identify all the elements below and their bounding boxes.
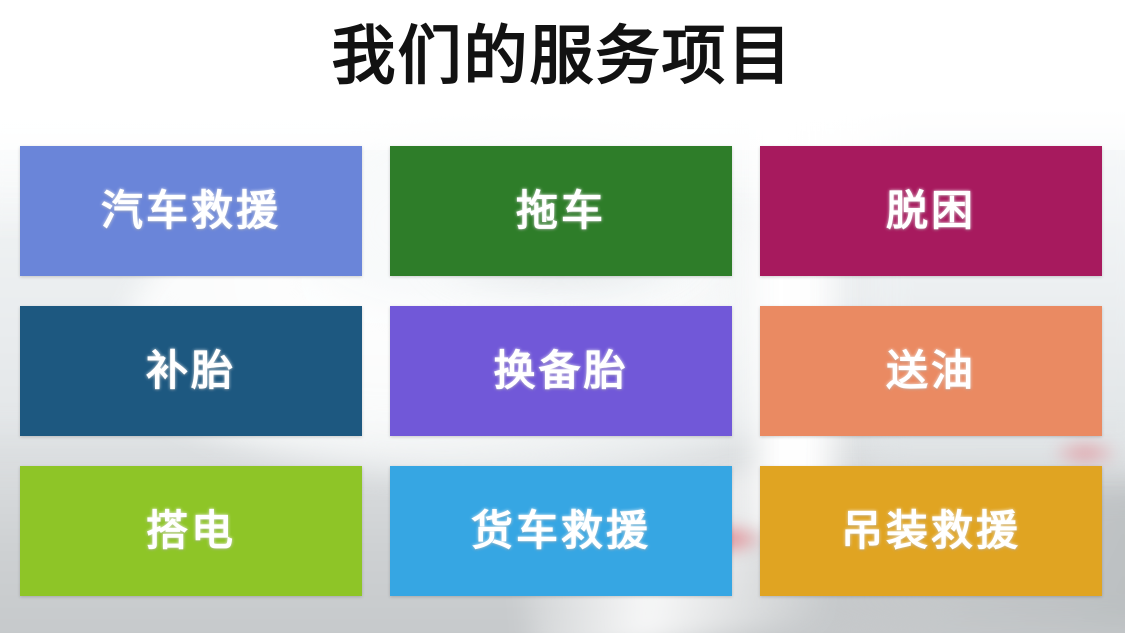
service-tile-extrication[interactable]: 脱困 bbox=[760, 146, 1102, 276]
service-tile-label: 拖车 bbox=[516, 190, 606, 232]
service-grid: 汽车救援 拖车 脱困 补胎 换备胎 送油 搭电 货车救援 吊装救援 bbox=[20, 146, 1105, 596]
service-tile-label: 搭电 bbox=[146, 510, 236, 552]
service-tile-spare-tire-change[interactable]: 换备胎 bbox=[390, 306, 732, 436]
service-tile-crane-lifting-rescue[interactable]: 吊装救援 bbox=[760, 466, 1102, 596]
service-tile-label: 脱困 bbox=[886, 190, 976, 232]
service-tile-towing[interactable]: 拖车 bbox=[390, 146, 732, 276]
service-tile-fuel-delivery[interactable]: 送油 bbox=[760, 306, 1102, 436]
service-tile-label: 汽车救援 bbox=[101, 190, 281, 232]
service-tile-label: 补胎 bbox=[146, 350, 236, 392]
service-tile-label: 换备胎 bbox=[493, 350, 628, 392]
service-tile-tire-repair[interactable]: 补胎 bbox=[20, 306, 362, 436]
service-tile-truck-rescue[interactable]: 货车救援 bbox=[390, 466, 732, 596]
page-title: 我们的服务项目 bbox=[0, 20, 1125, 94]
service-tile-jump-start[interactable]: 搭电 bbox=[20, 466, 362, 596]
service-tile-label: 货车救援 bbox=[471, 510, 651, 552]
service-tile-roadside-assistance[interactable]: 汽车救援 bbox=[20, 146, 362, 276]
service-tile-label: 送油 bbox=[886, 350, 976, 392]
service-tile-label: 吊装救援 bbox=[841, 510, 1021, 552]
service-poster: 我们的服务项目 汽车救援 拖车 脱困 补胎 换备胎 送油 搭电 货车救援 吊装救… bbox=[0, 0, 1125, 633]
